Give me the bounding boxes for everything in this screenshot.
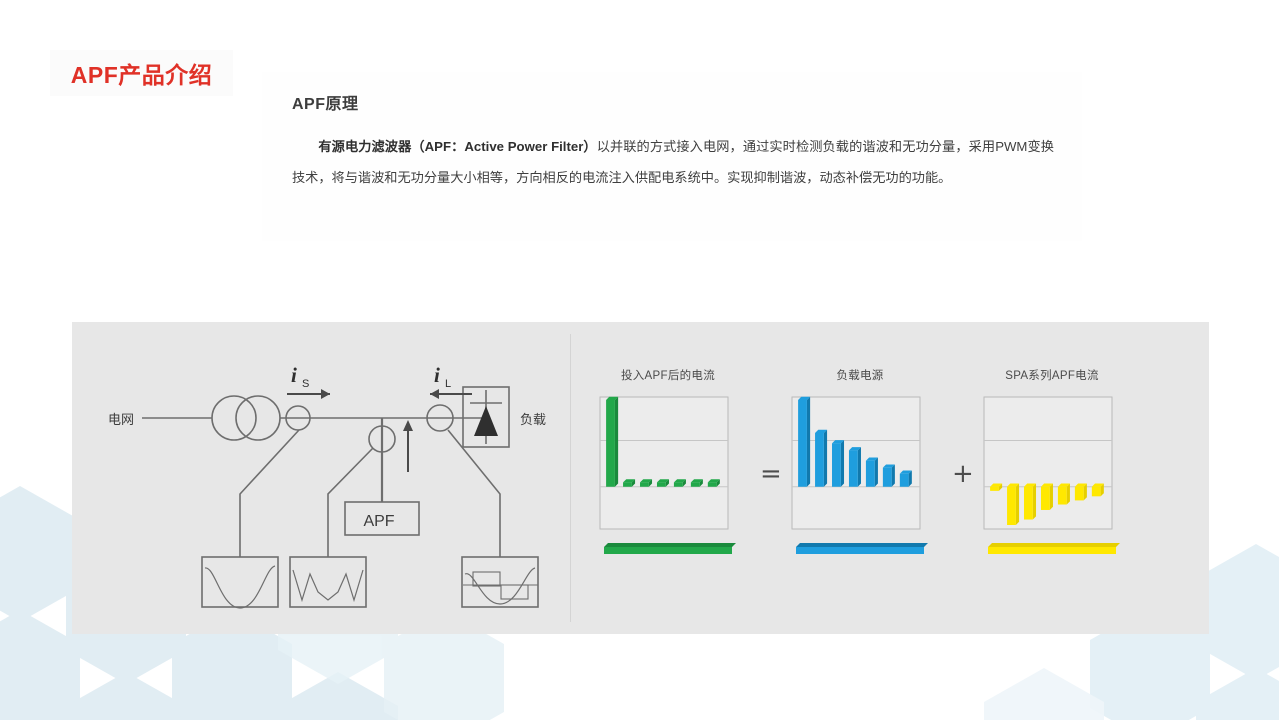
chart-title-1: 负载电源: [784, 367, 936, 383]
grid-label: 电网: [108, 412, 134, 427]
waveform-square-neg: [501, 585, 528, 599]
panel-divider: [570, 334, 571, 622]
current-load-sublabel: L: [445, 378, 451, 390]
intro-card: APF原理 有源电力滤波器（APF：Active Power Filter）以并…: [262, 72, 1082, 241]
scope-box-1: [202, 557, 278, 607]
intro-card-body: 有源电力滤波器（APF：Active Power Filter）以并联的方式接入…: [292, 131, 1054, 193]
chart-block-after-apf: 投入APF后的电流: [592, 367, 744, 561]
section-title-badge: APF产品介绍: [50, 50, 233, 96]
chart-title-2: SPA系列APF电流: [976, 367, 1128, 383]
wire-ct-source-to-scope: [240, 430, 299, 557]
current-source-arrow: [287, 389, 330, 399]
section-title-label: APF产品介绍: [71, 56, 213, 90]
waveform-harmonic: [293, 570, 363, 600]
chart-block-spa-apf-current: SPA系列APF电流: [976, 367, 1128, 561]
chart-equation: 投入APF后的电流 = 负载电源 + SPA系列APF电流: [592, 367, 1192, 597]
operator-plus: +: [952, 459, 974, 489]
current-source-label: i: [291, 363, 297, 387]
load-label: 负载: [520, 412, 546, 427]
intro-card-title: APF原理: [292, 90, 1054, 114]
operator-equals: =: [760, 459, 782, 489]
apf-box-label: APF: [363, 513, 394, 530]
chart-title-0: 投入APF后的电流: [592, 367, 744, 383]
transformer-coil-2: [236, 396, 280, 440]
intro-card-body-bold: 有源电力滤波器（APF：Active Power Filter）: [318, 139, 596, 154]
diagram-panel: 电网 负载 APF i S i L 投入APF后的电流 = 负载电源 + SPA…: [72, 322, 1209, 634]
chart-plot-1: [784, 393, 936, 561]
current-load-label: i: [434, 363, 440, 387]
waveform-sine: [205, 566, 275, 608]
transformer-coil-1: [212, 396, 256, 440]
chart-block-load-source: 负载电源: [784, 367, 936, 561]
current-source-sublabel: S: [302, 378, 309, 390]
apf-injection-arrow: [403, 420, 413, 472]
chart-plot-2: [976, 393, 1128, 561]
wire-ct-load-to-scope: [448, 430, 500, 557]
chart-plot-0: [592, 393, 744, 561]
current-load-arrow: [430, 389, 472, 399]
circuit-diagram: 电网 负载 APF i S i L: [92, 342, 562, 617]
thyristor-triangle: [474, 406, 498, 436]
